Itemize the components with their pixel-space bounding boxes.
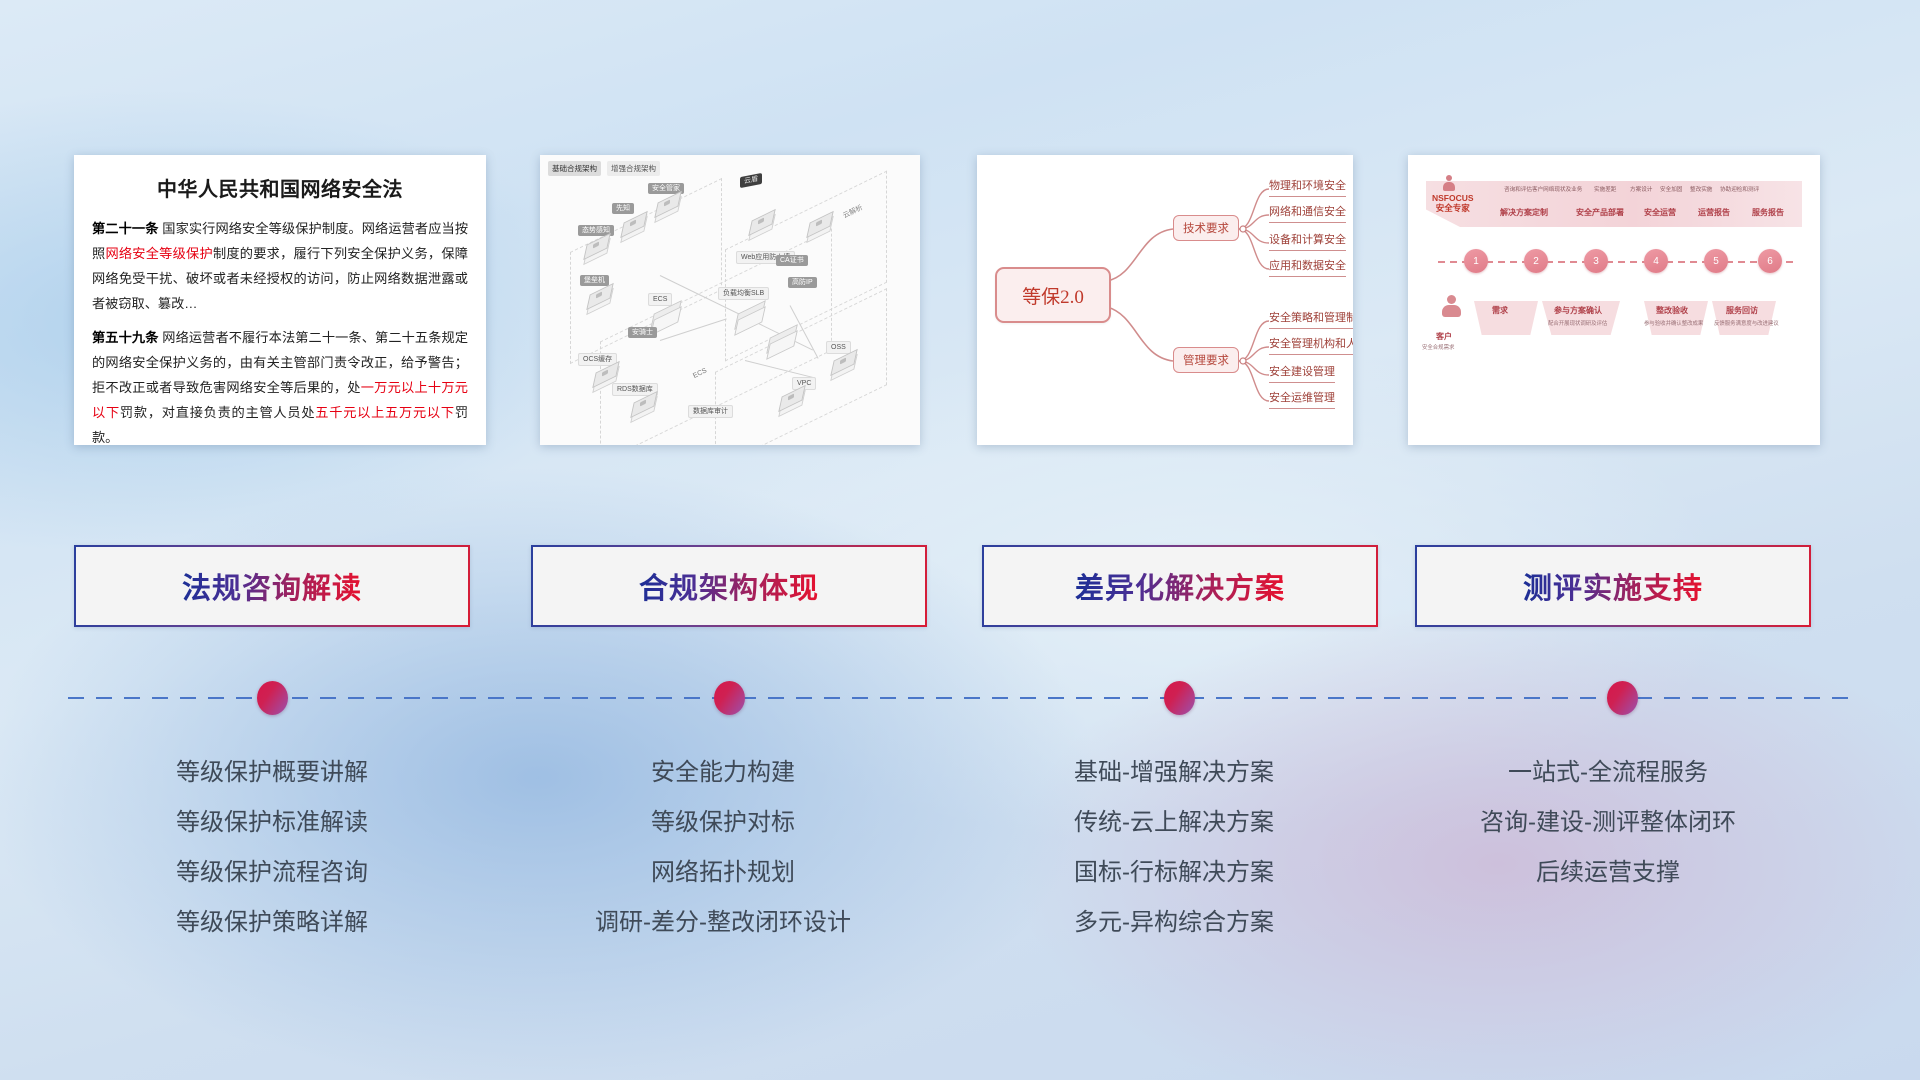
nsfocus-note-2: 方案设计 [1630,185,1652,193]
timeline-dot-4 [1607,681,1638,715]
arch-label-slb: 负载均衡SLB [718,287,769,300]
headline-box-assessment-support[interactable]: 测评实施支持 [1415,545,1811,627]
nsfocus-client-sub: 安全合规需求 [1422,343,1454,351]
nsfocus-step-5: 5 [1704,249,1728,273]
arch-node-rds-database [632,397,658,417]
list-item: 调研-差分-整改闭环设计 [513,898,933,948]
detail-list-compliance-architecture: 安全能力构建 等级保护对标 网络拓扑规划 调研-差分-整改闭环设计 [513,748,933,948]
nsfocus-foot-label-3: 服务回访 [1726,305,1758,316]
list-item: 传统-云上解决方案 [964,798,1384,848]
arch-node-bastion-host [588,289,614,309]
card-mindmap-dengbao: 等保2.0 技术要求 管理要求 物理和环境安全 网络和通信安全 设备和计算安全 … [977,155,1353,445]
mindmap-leaf-network-communication: 网络和通信安全 [1269,203,1346,223]
architecture-tab-group: 基础合规架构 增强合规架构 [548,161,660,176]
law-article-59: 第五十九条 网络运营者不履行本法第二十一条、第二十五条规定的网络安全保护义务的，… [92,325,468,445]
list-item: 咨询-建设-测评整体闭环 [1398,798,1818,848]
nsfocus-band-label-0: 解决方案定制 [1500,207,1548,218]
arch-label-oss: OSS [826,341,851,354]
law-article-21: 第二十一条 国家实行网络安全等级保护制度。网络运营者应当按照网络安全等级保护制度… [92,216,468,316]
list-item: 网络拓扑规划 [513,848,933,898]
nsfocus-note-3: 安全加固 [1660,185,1682,193]
nsfocus-step-2: 2 [1524,249,1548,273]
law-title: 中华人民共和国网络安全法 [92,173,468,202]
nsfocus-note-5: 协助迎检和测评 [1720,185,1759,193]
nsfocus-band-label-1: 安全产品部署 [1576,207,1624,218]
headline-box-regulation-consulting[interactable]: 法规咨询解读 [74,545,470,627]
card-nsfocus-timeline: NSFOCUS 安全专家 咨询和评估客户网络现状及业务 实施差距 方案设计 安全… [1408,155,1820,445]
mindmap-leaf-policy-system: 安全策略和管理制度 [1269,309,1353,329]
list-item: 后续运营支撑 [1398,848,1818,898]
arch-label-anti-ddos-ip: 高防IP [788,277,817,288]
mindmap-branch-management: 管理要求 [1173,347,1239,373]
list-item: 安全能力构建 [513,748,933,798]
headline-box-compliance-architecture[interactable]: 合规架构体现 [531,545,927,627]
architecture-tab-enhanced[interactable]: 增强合规架构 [607,161,660,176]
timeline-dot-3 [1164,681,1195,715]
list-item: 等级保护对标 [513,798,933,848]
nsfocus-band-label-4: 服务报告 [1752,207,1784,218]
nsfocus-timeline-axis [1438,261,1794,263]
nsfocus-brand-line2: 安全专家 [1432,203,1474,213]
list-item: 等级保护概要讲解 [62,748,482,798]
expert-avatar-icon [1442,175,1456,191]
arch-node-dns [808,217,834,237]
mindmap-leaf-device-computing: 设备和计算安全 [1269,231,1346,251]
mindmap-diagram: 等保2.0 技术要求 管理要求 物理和环境安全 网络和通信安全 设备和计算安全 … [977,155,1353,445]
architecture-diagram: 基础合规架构 增强合规架构 云盾 态势感知 先知 安全管家 堡垒机 [540,155,920,445]
arch-node-security-butler [656,197,682,217]
nsfocus-step-3: 3 [1584,249,1608,273]
list-item: 基础-增强解决方案 [964,748,1384,798]
law-article-59-highlight-2: 五千元以上五万元以下 [315,405,455,420]
mindmap-leaf-org-personnel: 安全管理机构和人员 [1269,335,1353,355]
list-item: 多元-异构综合方案 [964,898,1384,948]
list-item: 等级保护标准解读 [62,798,482,848]
arch-node-situational-awareness [585,239,611,259]
detail-list-differentiated-solution: 基础-增强解决方案 传统-云上解决方案 国标-行标解决方案 多元-异构综合方案 [964,748,1384,948]
arch-label-anqishi: 安骑士 [628,327,657,338]
detail-list-assessment-support: 一站式-全流程服务 咨询-建设-测评整体闭环 后续运营支撑 [1398,748,1818,898]
nsfocus-foot-label-0: 需求 [1492,305,1508,316]
headline-box-differentiated-solution[interactable]: 差异化解决方案 [982,545,1378,627]
nsfocus-note-1: 实施差距 [1594,185,1616,193]
list-item: 国标-行标解决方案 [964,848,1384,898]
arch-label-database-audit: 数据库审计 [688,405,733,418]
architecture-tab-basic[interactable]: 基础合规架构 [548,161,601,176]
arch-node-slb [736,307,766,331]
list-item: 等级保护策略详解 [62,898,482,948]
mindmap-branch-technical: 技术要求 [1173,215,1239,241]
arch-node-ecs-2 [768,331,798,355]
nsfocus-note-0: 咨询和评估客户网络现状及业务 [1504,185,1582,193]
timeline-dot-1 [257,681,288,715]
nsfocus-service-flow: NSFOCUS 安全专家 咨询和评估客户网络现状及业务 实施差距 方案设计 安全… [1408,155,1820,445]
mindmap-root: 等保2.0 [995,267,1111,323]
arch-label-cloud-shield: 云盾 [740,173,762,188]
mindmap-leaf-construction-mgmt: 安全建设管理 [1269,363,1335,383]
arch-node-waf [750,215,776,235]
headline-label-2: 差异化解决方案 [1075,565,1285,607]
law-document: 中华人民共和国网络安全法 第二十一条 国家实行网络安全等级保护制度。网络运营者应… [74,155,486,445]
mindmap-leaf-physical-environment: 物理和环境安全 [1269,177,1346,197]
arch-label-bastion-host: 堡垒机 [580,275,609,286]
law-article-21-label: 第二十一条 [92,221,159,236]
headline-label-0: 法规咨询解读 [182,565,362,607]
nsfocus-foot-sub-1: 参与验收并确认整改成果 [1644,319,1703,327]
nsfocus-brand: NSFOCUS 安全专家 [1432,193,1474,213]
headline-label-3: 测评实施支持 [1523,565,1703,607]
timeline-dashed-line [68,697,1856,699]
nsfocus-foot-sub-0: 配合开展现状调研及评估 [1548,319,1607,327]
mindmap-leaf-operations-mgmt: 安全运维管理 [1269,389,1335,409]
timeline-dot-2 [714,681,745,715]
arch-node-xianzhi [622,217,648,237]
nsfocus-foot-label-2: 整改验收 [1656,305,1688,316]
card-compliance-architecture: 基础合规架构 增强合规架构 云盾 态势感知 先知 安全管家 堡垒机 [540,155,920,445]
headline-label-1: 合规架构体现 [639,565,819,607]
nsfocus-band-label-2: 安全运营 [1644,207,1676,218]
detail-list-regulation-consulting: 等级保护概要讲解 等级保护标准解读 等级保护流程咨询 等级保护策略详解 [62,748,482,948]
slide-canvas: 中华人民共和国网络安全法 第二十一条 国家实行网络安全等级保护制度。网络运营者应… [0,0,1920,1080]
arch-node-vpc [780,391,806,411]
nsfocus-brand-line1: NSFOCUS [1432,193,1474,203]
arch-label-xianzhi: 先知 [612,203,634,214]
nsfocus-client-label: 客户 [1436,331,1452,342]
nsfocus-note-4: 整改实施 [1690,185,1712,193]
client-avatar-icon [1434,295,1474,329]
nsfocus-step-4: 4 [1644,249,1668,273]
mindmap-leaf-application-data: 应用和数据安全 [1269,257,1346,277]
law-article-59-label: 第五十九条 [92,330,159,345]
nsfocus-step-1: 1 [1464,249,1488,273]
card-cybersecurity-law: 中华人民共和国网络安全法 第二十一条 国家实行网络安全等级保护制度。网络运营者应… [74,155,486,445]
law-article-21-highlight: 网络安全等级保护 [105,246,213,261]
arch-label-ecs: ECS [648,293,672,306]
nsfocus-band-label-3: 运营报告 [1698,207,1730,218]
law-article-59-mid: 罚款，对直接负责的主管人员处 [120,405,315,420]
arch-label-ca-certificate: CA证书 [776,255,808,266]
nsfocus-step-6: 6 [1758,249,1782,273]
nsfocus-foot-label-1: 参与方案确认 [1554,305,1602,316]
nsfocus-foot-sub-2: 反馈服务满意度与改进建议 [1714,319,1779,327]
arch-node-oss [832,355,858,375]
list-item: 一站式-全流程服务 [1398,748,1818,798]
list-item: 等级保护流程咨询 [62,848,482,898]
